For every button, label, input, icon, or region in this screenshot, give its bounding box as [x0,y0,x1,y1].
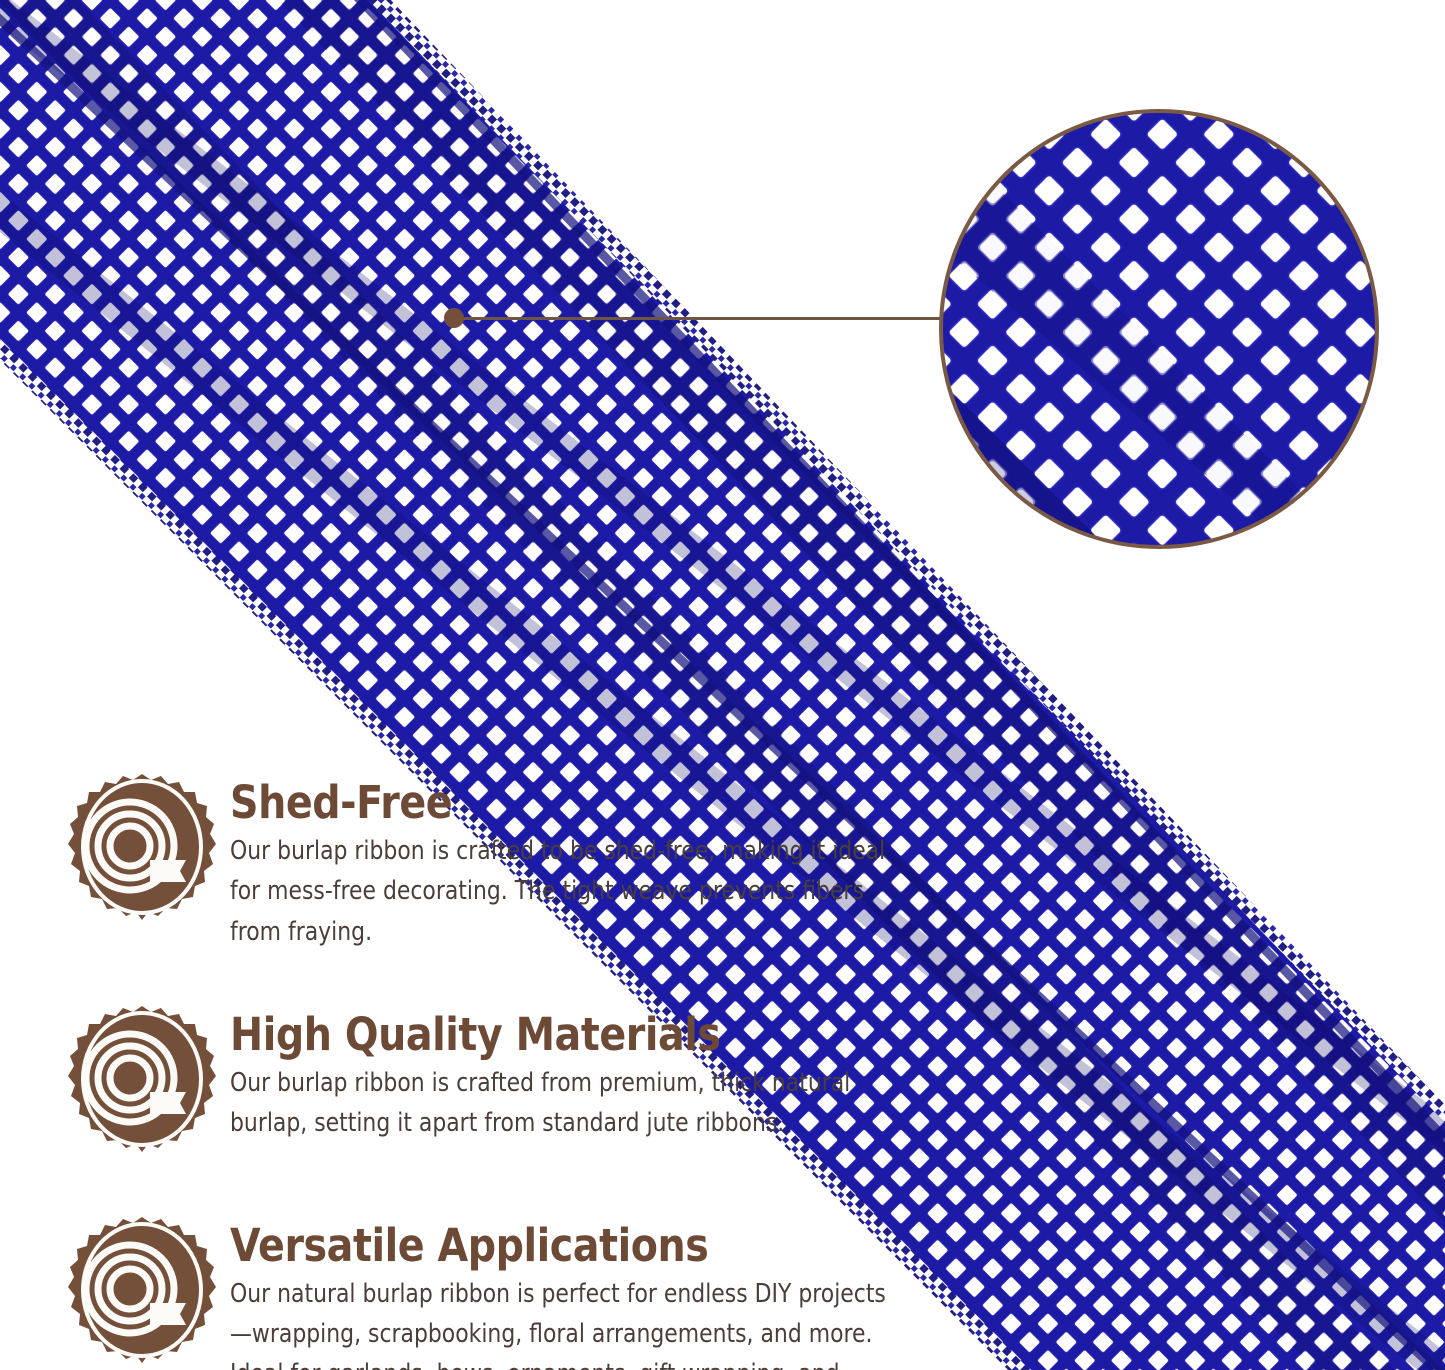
feature-text: High Quality Materials Our burlap ribbon… [230,1004,898,1144]
feature-item: High Quality Materials Our burlap ribbon… [68,1004,898,1169]
feature-item: Shed-Free Our burlap ribbon is crafted t… [68,772,898,952]
feature-title: Shed-Free [230,780,818,825]
callout-line [456,317,942,320]
feature-description: Our natural burlap ribbon is perfect for… [230,1274,896,1370]
ribbon-roll-badge-icon [68,772,216,937]
ribbon-roll-badge-icon [68,1004,216,1169]
feature-text: Shed-Free Our burlap ribbon is crafted t… [230,772,898,952]
feature-title: Versatile Applications [230,1223,818,1268]
feature-text: Versatile Applications Our natural burla… [230,1215,898,1370]
callout-dot [444,308,464,328]
ribbon-roll-badge-icon [68,1215,216,1370]
infographic-page: Shed-Free Our burlap ribbon is crafted t… [0,0,1445,1370]
feature-item: Versatile Applications Our natural burla… [68,1215,898,1370]
feature-title: High Quality Materials [230,1012,818,1057]
weave-closeup-circle [936,106,1382,552]
feature-list: Shed-Free Our burlap ribbon is crafted t… [68,772,898,1370]
feature-description: Our burlap ribbon is crafted from premiu… [230,1063,896,1144]
feature-description: Our burlap ribbon is crafted to be shed-… [230,831,896,952]
